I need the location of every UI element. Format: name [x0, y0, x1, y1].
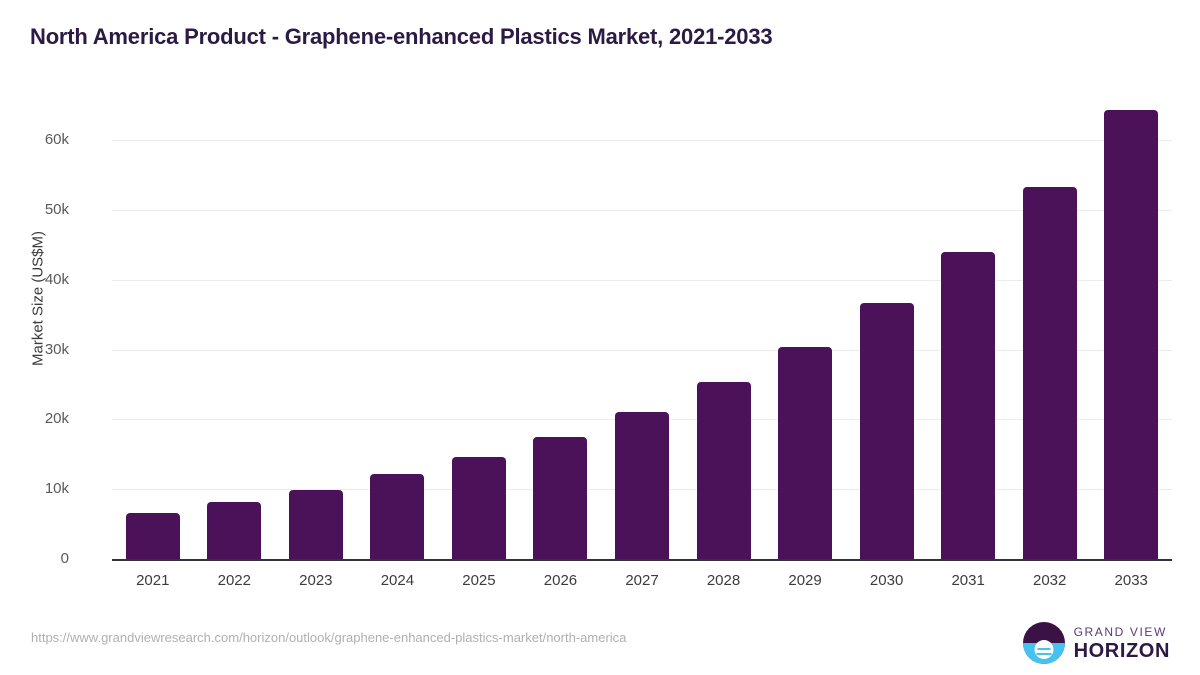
bar-2024[interactable] — [370, 474, 424, 559]
y-axis-tick-label: 60k — [0, 131, 69, 148]
x-axis-tick-label: 2026 — [519, 572, 601, 589]
logo-ray-1 — [1037, 648, 1050, 650]
x-axis-tick-label: 2029 — [764, 572, 846, 589]
bar-2029[interactable] — [778, 347, 832, 559]
source-url[interactable]: https://www.grandviewresearch.com/horizo… — [31, 630, 626, 645]
x-axis-tick-label: 2024 — [356, 572, 438, 589]
y-axis-tick-label: 0 — [0, 550, 69, 567]
chart-plot-area: Market Size (US$M) 010k20k30k40k50k60k 2… — [0, 0, 1200, 675]
logo-text-top: GRAND VIEW — [1074, 626, 1170, 638]
bar-2033[interactable] — [1104, 110, 1158, 559]
bar-slot — [357, 110, 439, 559]
bar-slot — [927, 110, 1009, 559]
bar-slot — [438, 110, 520, 559]
bar-2021[interactable] — [126, 513, 180, 559]
x-axis-tick-label: 2028 — [683, 572, 765, 589]
bar-2025[interactable] — [452, 457, 506, 559]
horizon-sunrise-icon — [1023, 622, 1065, 664]
y-axis-title: Market Size (US$M) — [30, 109, 47, 489]
bar-slot — [1090, 110, 1172, 559]
x-axis-tick-label: 2030 — [846, 572, 928, 589]
x-axis-tick-label: 2032 — [1009, 572, 1091, 589]
bar-slot — [683, 110, 765, 559]
bar-2030[interactable] — [860, 303, 914, 559]
y-axis-tick-label: 30k — [0, 341, 69, 358]
grand-view-horizon-logo[interactable]: GRAND VIEW HORIZON — [1023, 622, 1170, 664]
y-axis-tick-label: 50k — [0, 201, 69, 218]
bar-2022[interactable] — [207, 502, 261, 559]
bar-2026[interactable] — [533, 437, 587, 559]
bars-group — [112, 110, 1172, 559]
x-axis-line — [112, 559, 1172, 561]
bar-slot — [112, 110, 194, 559]
x-axis-tick-label: 2033 — [1090, 572, 1172, 589]
x-axis-tick-label: 2021 — [112, 572, 194, 589]
bar-2028[interactable] — [697, 382, 751, 559]
logo-text: GRAND VIEW HORIZON — [1074, 626, 1170, 661]
logo-ray-2 — [1036, 653, 1051, 655]
y-axis-tick-label: 40k — [0, 271, 69, 288]
bar-2027[interactable] — [615, 412, 669, 559]
bar-slot — [764, 110, 846, 559]
x-axis-tick-label: 2031 — [927, 572, 1009, 589]
x-axis-tick-label: 2027 — [601, 572, 683, 589]
y-axis-tick-label: 20k — [0, 410, 69, 427]
x-axis-tick-label: 2023 — [275, 572, 357, 589]
bar-slot — [601, 110, 683, 559]
x-axis-tick-label: 2022 — [193, 572, 275, 589]
logo-text-bottom: HORIZON — [1074, 641, 1170, 661]
bar-2023[interactable] — [289, 490, 343, 559]
bar-2031[interactable] — [941, 252, 995, 559]
bar-2032[interactable] — [1023, 187, 1077, 559]
bar-slot — [846, 110, 928, 559]
x-axis-tick-label: 2025 — [438, 572, 520, 589]
bar-slot — [194, 110, 276, 559]
y-axis-tick-label: 10k — [0, 480, 69, 497]
bar-slot — [1009, 110, 1091, 559]
bar-slot — [520, 110, 602, 559]
chart-page: North America Product - Graphene-enhance… — [0, 0, 1200, 675]
bar-slot — [275, 110, 357, 559]
